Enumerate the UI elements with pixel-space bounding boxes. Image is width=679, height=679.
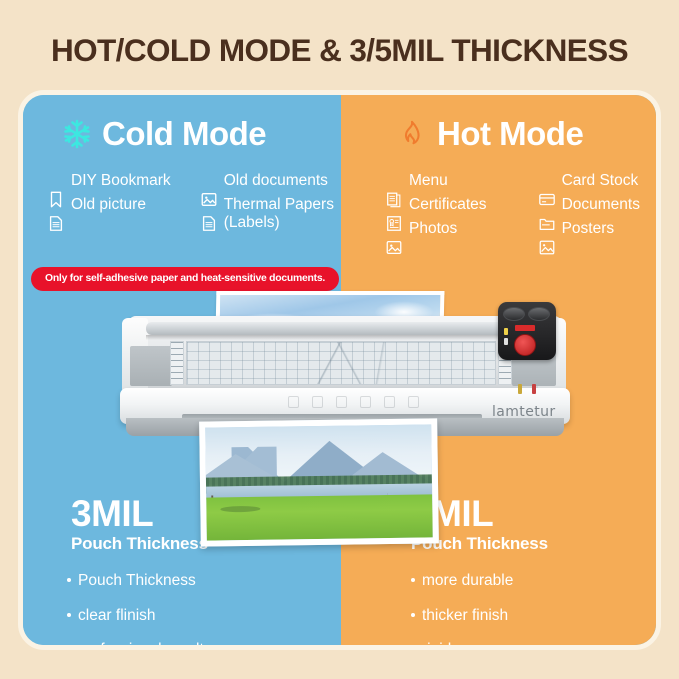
cold-mode-warning-badge: Only for self-adhesive paper and heat-se… <box>31 267 339 291</box>
cold-mode-header: Cold Mode <box>60 115 266 153</box>
photo-icon <box>385 220 403 239</box>
hot-mode-item-list: Menu Card Stock Certificates Documents <box>385 171 661 239</box>
list-item: Old picture <box>47 195 184 232</box>
list-item-label: Documents <box>562 195 640 214</box>
ready-led-icon <box>504 338 508 345</box>
card-icon <box>538 172 556 191</box>
thickness-left-subtitle: Pouch Thickness <box>71 534 208 554</box>
bullet-dot-icon <box>411 647 415 650</box>
hot-mode-title: Hot Mode <box>437 115 583 153</box>
hot-icon[interactable] <box>360 396 371 408</box>
trimmer-rail-shadow <box>146 335 546 340</box>
ruler-left <box>170 341 184 385</box>
cold-mode-title: Cold Mode <box>102 115 266 153</box>
hot-mode-header: Hot Mode <box>395 115 583 153</box>
list-item: Documents <box>538 195 661 215</box>
document-lines-icon <box>200 196 218 215</box>
bookmark-icon <box>47 172 65 191</box>
list-item: clear flinish <box>67 608 212 624</box>
list-item-label: Posters <box>562 219 615 238</box>
infographic-root: HOT/COLD MODE & 3/5MIL THICKNESS <box>0 0 679 679</box>
bullet-dot-icon <box>411 613 415 617</box>
folder-icon <box>538 196 556 215</box>
status-light-amber <box>518 384 522 394</box>
list-item: Posters <box>538 219 661 239</box>
list-item: thicker finish <box>411 608 513 624</box>
page-title: HOT/COLD MODE & 3/5MIL THICKNESS <box>0 32 679 69</box>
menu-stack-icon <box>385 172 403 191</box>
release-button[interactable] <box>514 334 536 356</box>
mode-icon[interactable] <box>336 396 347 408</box>
indicator-bar <box>515 325 535 331</box>
list-item: Pouch Thickness <box>67 573 212 589</box>
bullet-label: clear flinish <box>78 608 156 624</box>
list-item-label: Old picture <box>71 195 146 214</box>
bullet-dot-icon <box>67 578 71 582</box>
control-panel-icons[interactable] <box>288 396 419 408</box>
list-item: Card Stock <box>538 171 661 191</box>
thickness-left-block: 3MIL Pouch Thickness <box>71 495 208 554</box>
list-item-label: Certificates <box>409 195 487 214</box>
status-light-red <box>532 384 536 394</box>
bullet-dot-icon <box>67 647 71 650</box>
thickness-left-bullets: Pouch Thickness clear flinish profession… <box>67 573 212 650</box>
thickness-right-bullets: more durable thicker finish rigid <box>411 573 513 650</box>
thickness-left-value: 3MIL <box>71 495 208 532</box>
bullet-label: more durable <box>422 573 513 589</box>
photo-grass-field <box>206 494 433 540</box>
trimmer-rail <box>146 322 546 335</box>
reverse-icon[interactable] <box>408 396 419 408</box>
bullet-label: thicker finish <box>422 608 508 624</box>
bullet-dot-icon <box>411 578 415 582</box>
list-item-label: Old documents <box>224 171 328 190</box>
list-item: Thermal Papers (Labels) <box>200 195 347 232</box>
list-item-label: Menu <box>409 171 448 190</box>
list-item-label: Photos <box>409 219 457 238</box>
grid-guide-lines <box>187 342 495 384</box>
output-laminated-photo <box>199 418 439 546</box>
control-knob-assembly[interactable] <box>498 302 556 360</box>
cold-mode-item-list: DIY Bookmark Old documents Old picture T… <box>47 171 347 232</box>
brand-logo: lamtetur <box>492 404 556 420</box>
machine-left-tray <box>130 346 172 386</box>
bullet-label: rigid <box>422 642 451 650</box>
list-item: DIY Bookmark <box>47 171 184 191</box>
bullet-dot-icon <box>67 613 71 617</box>
list-item: Menu <box>385 171 522 191</box>
laminator-machine-image: lamtetur <box>120 296 570 486</box>
flame-icon <box>395 117 429 151</box>
power-icon[interactable] <box>288 396 299 408</box>
list-item: rigid <box>411 642 513 650</box>
list-item-label: Thermal Papers (Labels) <box>224 195 334 232</box>
list-item: Photos <box>385 219 522 239</box>
speed-dial-icon[interactable] <box>528 307 550 321</box>
poster-icon <box>538 220 556 239</box>
bullet-label: professional results <box>78 642 212 650</box>
image-icon <box>200 172 218 191</box>
list-item: Old documents <box>200 171 347 191</box>
snowflake-icon <box>60 117 94 151</box>
cold-icon[interactable] <box>384 396 395 408</box>
list-item: Certificates <box>385 195 522 215</box>
certificate-icon <box>385 196 403 215</box>
list-item-label: DIY Bookmark <box>71 171 171 190</box>
list-item: professional results <box>67 642 212 650</box>
cutting-grid-surface <box>186 341 496 385</box>
document-lines-icon <box>47 196 65 215</box>
speed-icon[interactable] <box>312 396 323 408</box>
list-item-label: Card Stock <box>562 171 639 190</box>
temperature-dial-icon[interactable] <box>503 307 525 321</box>
bullet-label: Pouch Thickness <box>78 573 196 589</box>
power-led-icon <box>504 328 508 335</box>
list-item: more durable <box>411 573 513 589</box>
